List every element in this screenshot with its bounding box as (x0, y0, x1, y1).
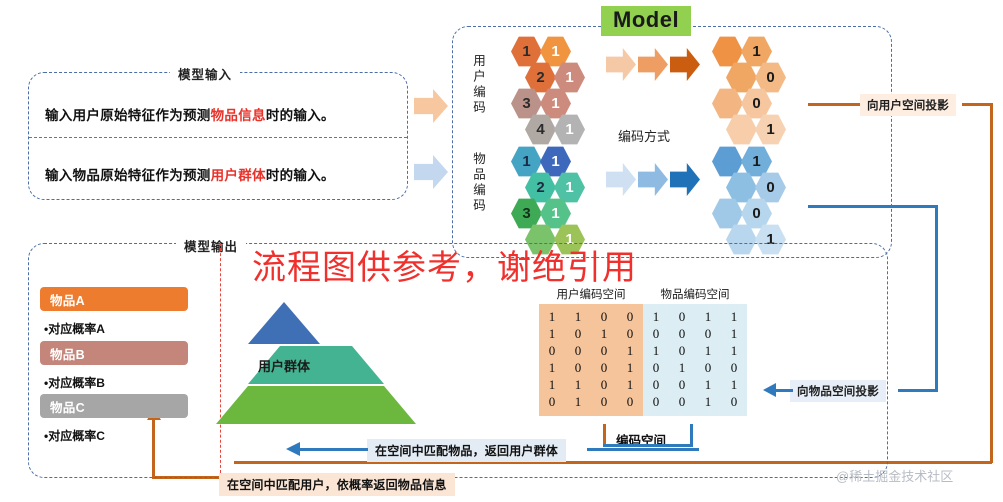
input-row-2: 输入物品原始特征作为预测用户群体时的输入。 (45, 164, 335, 184)
matrix-user-cell: 1 (539, 308, 565, 325)
output-item-prob-2: •对应概率C (44, 427, 105, 444)
matrix-item-cell: 1 (721, 342, 747, 359)
matrix-user-cell: 0 (617, 308, 643, 325)
input-panel-title: 模型输入 (170, 64, 240, 83)
pyramid-label: 用户群体 (258, 356, 310, 375)
matrix-item-cell: 1 (721, 308, 747, 325)
matrix-user-cell: 1 (539, 359, 565, 376)
encode-way-label: 编码方式 (618, 126, 670, 145)
matrix-user-cell: 0 (565, 359, 591, 376)
matrix-user-cell: 1 (565, 393, 591, 410)
user-proj-line-right (962, 103, 992, 106)
to-user-space-label: 向用户空间投影 (860, 94, 956, 116)
matrix-user-cell: 0 (539, 393, 565, 410)
item-proj-line-down (935, 205, 938, 391)
output-item-bar-0[interactable]: 物品A (40, 287, 188, 311)
output-item-bar-2[interactable]: 物品C (40, 394, 188, 418)
matrix-item-cell: 1 (695, 308, 721, 325)
matrix-user-cell: 1 (617, 342, 643, 359)
matrix-item-group: 物品编码空间 101100011011010000110010 (643, 284, 747, 416)
input-to-model-arrow-orange (414, 89, 448, 123)
encoding-space-tick-left (603, 424, 606, 444)
input-row-1: 输入用户原始特征作为预测物品信息时的输入。 (45, 104, 335, 124)
pyramid-bottom (216, 386, 416, 424)
encoding-space-underline (603, 444, 693, 447)
output-item-prob-0: •对应概率A (44, 320, 105, 337)
matrix-item-cell: 0 (721, 393, 747, 410)
input-row-1-post: 时的输入。 (266, 108, 335, 123)
user-encode-label: 用户编码 (470, 54, 486, 116)
user-proj-line-down (990, 103, 993, 463)
item-proj-line-top (808, 205, 938, 208)
matrix-item-cell: 0 (643, 376, 669, 393)
user-proj-line-left (808, 103, 860, 106)
encoding-space-matrix: 用户编码空间 110010100001100111010100 物品编码空间 1… (539, 284, 747, 416)
matrix-item-header: 物品编码空间 (643, 284, 747, 304)
matrix-user-cell: 0 (539, 342, 565, 359)
match-item-callout: 在空间中匹配物品，返回用户群体 (367, 439, 566, 462)
encoding-space-tick-right (690, 424, 693, 444)
matrix-item-cell: 0 (669, 342, 695, 359)
model-tag: Model (601, 6, 691, 36)
matrix-user-cell: 0 (617, 393, 643, 410)
match-item-line-left (300, 448, 368, 451)
item-encode-label: 物品编码 (470, 152, 486, 214)
input-row-separator (29, 137, 407, 138)
input-row-2-highlight: 用户群体 (211, 168, 266, 183)
input-row-2-post: 时的输入。 (266, 168, 335, 183)
matrix-user-cell: 1 (591, 325, 617, 342)
input-row-1-pre: 输入用户原始特征作为预测 (45, 108, 211, 123)
pyramid-top (248, 302, 320, 344)
matrix-user-cell: 0 (591, 393, 617, 410)
matrix-item-cell: 0 (643, 325, 669, 342)
output-panel-title: 模型输出 (176, 236, 246, 255)
matrix-item-cell: 1 (721, 376, 747, 393)
diagram-canvas: 模型输入 输入用户原始特征作为预测物品信息时的输入。 输入物品原始特征作为预测用… (0, 0, 1003, 502)
matrix-user-grid: 110010100001100111010100 (539, 304, 643, 416)
input-to-model-arrow-blue (414, 155, 448, 189)
matrix-user-cell: 0 (591, 308, 617, 325)
matrix-item-cell: 1 (669, 359, 695, 376)
matrix-user-cell: 0 (591, 376, 617, 393)
matrix-user-cell: 1 (617, 376, 643, 393)
matrix-user-group: 用户编码空间 110010100001100111010100 (539, 284, 643, 416)
output-panel-divider (220, 243, 221, 478)
matrix-user-cell: 1 (617, 359, 643, 376)
matrix-item-cell: 1 (695, 393, 721, 410)
item-proj-line-to-label (898, 389, 938, 392)
matrix-item-cell: 0 (721, 359, 747, 376)
matrix-user-cell: 1 (539, 376, 565, 393)
input-row-1-highlight: 物品信息 (211, 108, 266, 123)
matrix-user-cell: 1 (565, 308, 591, 325)
matrix-user-cell: 0 (591, 359, 617, 376)
community-watermark: @稀土掘金技术社区 (836, 466, 953, 485)
matrix-item-cell: 1 (695, 342, 721, 359)
matrix-item-cell: 0 (643, 393, 669, 410)
matrix-item-cell: 0 (695, 325, 721, 342)
output-item-bar-1[interactable]: 物品B (40, 341, 188, 365)
match-item-arrowhead (286, 442, 300, 456)
matrix-item-grid: 101100011011010000110010 (643, 304, 747, 416)
matrix-item-cell: 1 (695, 376, 721, 393)
matrix-user-cell: 1 (539, 325, 565, 342)
matrix-item-cell: 0 (643, 359, 669, 376)
matrix-user-cell: 0 (591, 342, 617, 359)
matrix-user-cell: 0 (617, 325, 643, 342)
matrix-item-cell: 1 (721, 325, 747, 342)
matrix-item-cell: 0 (695, 359, 721, 376)
matrix-item-cell: 0 (669, 376, 695, 393)
matrix-item-cell: 0 (669, 325, 695, 342)
matrix-item-cell: 1 (643, 342, 669, 359)
item-encode-label-text: 物品编码 (470, 152, 485, 214)
matrix-item-cell: 0 (669, 393, 695, 410)
matrix-item-cell: 1 (643, 308, 669, 325)
match-user-callout: 在空间中匹配用户，依概率返回物品信息 (219, 473, 455, 496)
matrix-user-cell: 0 (565, 342, 591, 359)
matrix-item-cell: 0 (669, 308, 695, 325)
output-item-prob-1: •对应概率B (44, 374, 105, 391)
user-encode-label-text: 用户编码 (470, 54, 485, 116)
red-watermark: 流程图供参考，谢绝引用 (252, 240, 637, 289)
match-item-line (587, 448, 699, 451)
matrix-user-cell: 1 (565, 376, 591, 393)
matrix-user-cell: 0 (565, 325, 591, 342)
input-row-2-pre: 输入物品原始特征作为预测 (45, 168, 211, 183)
